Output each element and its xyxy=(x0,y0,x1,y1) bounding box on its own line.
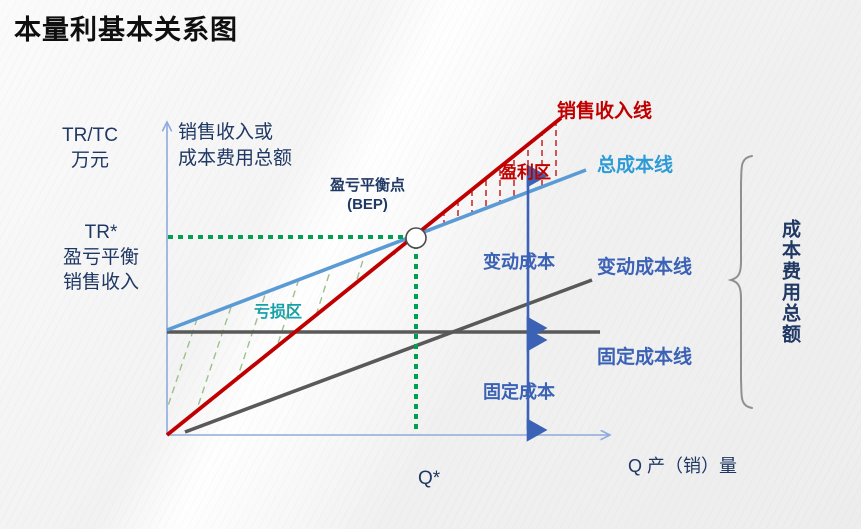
variable-cost-line-label: 变动成本线 xyxy=(597,252,692,279)
variable-cost-line xyxy=(185,280,592,432)
profit-zone-label: 盈利区 xyxy=(500,158,551,183)
breakeven-point-label: 盈亏平衡点 (BEP) xyxy=(330,176,405,214)
fixed-cost-arrow-label: 固定成本 xyxy=(483,378,555,404)
fixed-cost-line-label: 固定成本线 xyxy=(597,342,692,369)
variable-cost-arrow-label: 变动成本 xyxy=(483,248,555,274)
x-axis-title: Q 产（销）量 xyxy=(628,452,737,478)
y-axis-note: 销售收入或 成本费用总额 xyxy=(178,120,292,172)
y-axis-title: TR/TC 万元 xyxy=(62,123,118,173)
loss-zone-label: 亏损区 xyxy=(254,298,302,322)
x-axis-breakeven-marker: Q* xyxy=(418,468,440,490)
total-cost-line-label: 总成本线 xyxy=(597,150,673,177)
y-axis-breakeven-marker: TR* 盈亏平衡 销售收入 xyxy=(46,220,156,295)
breakeven-point-marker xyxy=(406,228,426,248)
cost-total-bracket-label: 成本费用总额 xyxy=(780,219,799,345)
sales-revenue-line-label: 销售收入线 xyxy=(557,96,652,123)
cost-total-brace xyxy=(731,156,752,408)
